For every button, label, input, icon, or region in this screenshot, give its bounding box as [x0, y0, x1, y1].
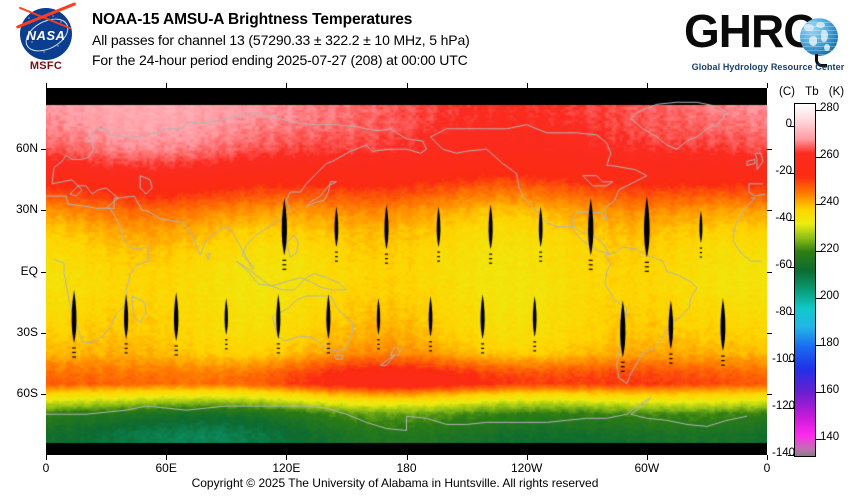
colorbar-celsius-label: 0 — [772, 118, 792, 130]
y-axis-tick-right — [767, 272, 772, 273]
y-axis-tick-label: 30S — [2, 325, 38, 339]
map-raster — [46, 88, 767, 455]
x-axis-tick — [407, 455, 408, 460]
x-axis-tick-top — [527, 83, 528, 88]
colorbar-kelvin-label: 240 — [820, 196, 854, 208]
x-axis-tick-top — [647, 83, 648, 88]
colorbar-celsius-label: -120 — [772, 400, 792, 412]
colorbar-unit-celsius: (C) — [779, 86, 795, 98]
x-axis-tick — [286, 455, 287, 460]
globe-gridlines — [800, 18, 838, 56]
y-axis-tick — [41, 333, 46, 334]
x-axis-tick — [767, 455, 768, 460]
colorbar-gradient — [795, 104, 815, 456]
colorbar-kelvin-label: 160 — [820, 384, 854, 396]
colorbar-kelvin-label: 260 — [820, 149, 854, 161]
y-axis-tick-label: 60N — [2, 141, 38, 155]
colorbar-celsius-label: -100 — [772, 353, 792, 365]
y-axis-tick — [41, 149, 46, 150]
colorbar-kelvin-label: 140 — [820, 431, 854, 443]
channel-subtitle: All passes for channel 13 (57290.33 ± 32… — [92, 30, 652, 50]
ghrc-wordmark: GHRC — [684, 8, 815, 54]
y-axis-tick-right — [767, 333, 772, 334]
x-axis-tick-top — [166, 83, 167, 88]
colorbar-kelvin-label: 180 — [820, 337, 854, 349]
title-block: NOAA-15 AMSU-A Brightness Temperatures A… — [92, 10, 652, 70]
y-axis-tick-label: 60S — [2, 386, 38, 400]
page-title: NOAA-15 AMSU-A Brightness Temperatures — [92, 10, 652, 30]
x-axis-tick-label: 60W — [625, 461, 669, 475]
nasa-wordmark: NASA — [20, 28, 72, 43]
colorbar-unit-kelvin: (K) — [829, 86, 844, 98]
y-axis-tick — [41, 272, 46, 273]
colorbar-celsius-label: -60 — [772, 259, 792, 271]
colorbar-celsius-label: -40 — [772, 212, 792, 224]
y-axis-tick-label: EQ — [2, 264, 38, 278]
colorbar-kelvin-label: 200 — [820, 290, 854, 302]
colorbar-celsius-label: -20 — [772, 165, 792, 177]
x-axis-tick-label: 120W — [505, 461, 549, 475]
colorbar-header: (C) Tb (K) — [779, 86, 853, 98]
colorbar-celsius-label: -80 — [772, 306, 792, 318]
x-axis-tick-top — [286, 83, 287, 88]
x-axis-tick-label: 60E — [144, 461, 188, 475]
x-axis-tick-top — [407, 83, 408, 88]
brightness-temperature-map — [46, 88, 767, 455]
colorbar-celsius-label: -140 — [772, 447, 792, 459]
x-axis-tick-label: 180 — [385, 461, 429, 475]
x-axis-tick-top — [46, 83, 47, 88]
nasa-msfc-logo: NASA MSFC — [14, 8, 78, 78]
globe-icon — [800, 18, 838, 56]
ghrc-logo: GHRC Global Hydrology Resource Center — [684, 6, 850, 80]
x-axis-tick-top — [767, 83, 768, 88]
x-axis-tick-label: 120E — [264, 461, 308, 475]
y-axis-tick-label: 30N — [2, 202, 38, 216]
x-axis-tick-label: 0 — [24, 461, 68, 475]
y-axis-tick-right — [767, 394, 772, 395]
colorbar-kelvin-label: 220 — [820, 243, 854, 255]
colorbar-symbol: Tb — [805, 86, 818, 98]
x-axis-tick — [647, 455, 648, 460]
copyright-notice: Copyright © 2025 The University of Alaba… — [0, 476, 790, 490]
x-axis-tick-label: 0 — [745, 461, 789, 475]
y-axis-tick — [41, 210, 46, 211]
ghrc-tagline: Global Hydrology Resource Center — [686, 62, 850, 72]
colorbar-kelvin-label: 280 — [820, 102, 854, 114]
nasa-center-label: MSFC — [14, 60, 78, 72]
y-axis-tick — [41, 394, 46, 395]
period-subtitle: For the 24-hour period ending 2025-07-27… — [92, 50, 652, 70]
x-axis-tick — [527, 455, 528, 460]
y-axis-tick-right — [767, 149, 772, 150]
x-axis-tick — [166, 455, 167, 460]
colorbar — [794, 103, 816, 457]
x-axis-tick — [46, 455, 47, 460]
